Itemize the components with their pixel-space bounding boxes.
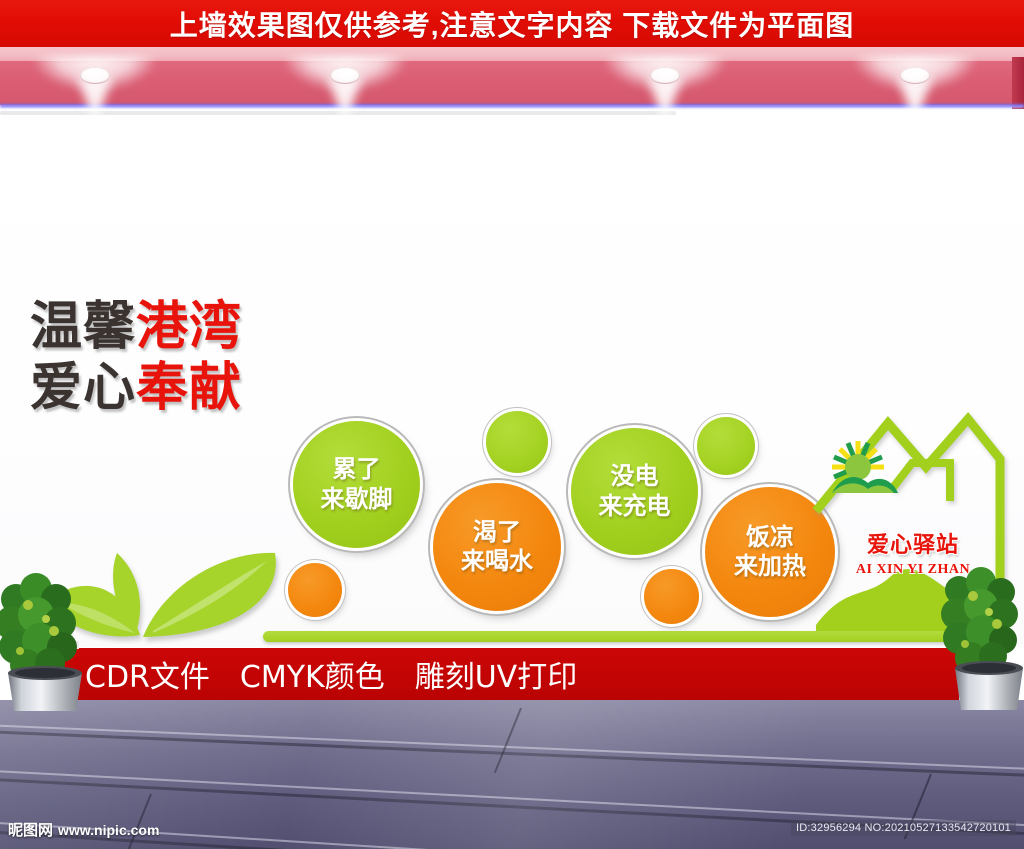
- top-disclaimer-text: 上墙效果图仅供参考,注意文字内容 下载文件为平面图: [170, 4, 855, 44]
- asset-id-text: ID:32956294 NO:20210527133542720101: [791, 820, 1016, 836]
- headline-block: 温馨港湾 爱心奉献: [30, 301, 290, 414]
- green-rail-upper: [263, 631, 953, 642]
- ceiling-led-edge: [0, 104, 1024, 108]
- headline-line1-dark: 温馨: [30, 297, 136, 357]
- light-glow: [605, 56, 725, 90]
- accent-dot-1: [288, 563, 342, 617]
- bubble-3-line1: 没电: [611, 462, 659, 491]
- potted-plant-left-icon: [0, 555, 104, 715]
- wall-culture-graphic: 温馨港湾 爱心奉献 累了 来歇脚 渴了 来喝水: [0, 111, 1024, 581]
- bubble-3[interactable]: 没电 来充电: [571, 428, 698, 555]
- top-disclaimer-banner: 上墙效果图仅供参考,注意文字内容 下载文件为平面图: [0, 0, 1024, 47]
- light-glow: [855, 56, 975, 90]
- headline-line-1: 温馨港湾: [30, 301, 290, 353]
- site-logo-url: www.nipic.com: [58, 822, 159, 838]
- headline-line2-red: 奉献: [136, 358, 242, 418]
- site-logo[interactable]: 昵图网 www.nipic.com: [8, 819, 159, 840]
- bubble-1-line2: 来歇脚: [321, 485, 393, 514]
- bottom-spec-band: CDR文件 CMYK颜色 雕刻UV打印: [63, 648, 959, 700]
- ceiling-right-cap: [1012, 57, 1024, 109]
- headline-line1-red: 港湾: [136, 297, 242, 357]
- bubble-2-line1: 渴了: [473, 518, 521, 547]
- house-badge-title-cn: 爱心驿站: [838, 527, 988, 559]
- site-logo-mark: 昵图网: [8, 819, 53, 840]
- accent-dot-2: [486, 411, 548, 473]
- bubble-2-line2: 来喝水: [461, 547, 533, 576]
- bubble-4-line1: 饭凉: [746, 523, 794, 552]
- bubble-2[interactable]: 渴了 来喝水: [433, 483, 561, 611]
- sun-icon: [832, 441, 898, 493]
- headline-line-2: 爱心奉献: [30, 362, 290, 414]
- accent-dot-4: [697, 417, 755, 475]
- poster-canvas: 上墙效果图仅供参考,注意文字内容 下载文件为平面图 温馨港湾 爱心奉献: [0, 0, 1024, 849]
- bubble-1-line1: 累了: [333, 455, 381, 484]
- accent-dot-3: [644, 569, 699, 624]
- bubble-4-line2: 来加热: [734, 552, 806, 581]
- bubble-1[interactable]: 累了 来歇脚: [293, 421, 420, 548]
- headline-line2-dark: 爱心: [30, 358, 136, 418]
- light-glow: [35, 56, 155, 90]
- light-glow: [285, 56, 405, 90]
- bottom-spec-text: CDR文件 CMYK颜色 雕刻UV打印: [85, 652, 577, 696]
- bubble-3-line2: 来充电: [599, 492, 671, 521]
- potted-plant-right-icon: [925, 556, 1024, 716]
